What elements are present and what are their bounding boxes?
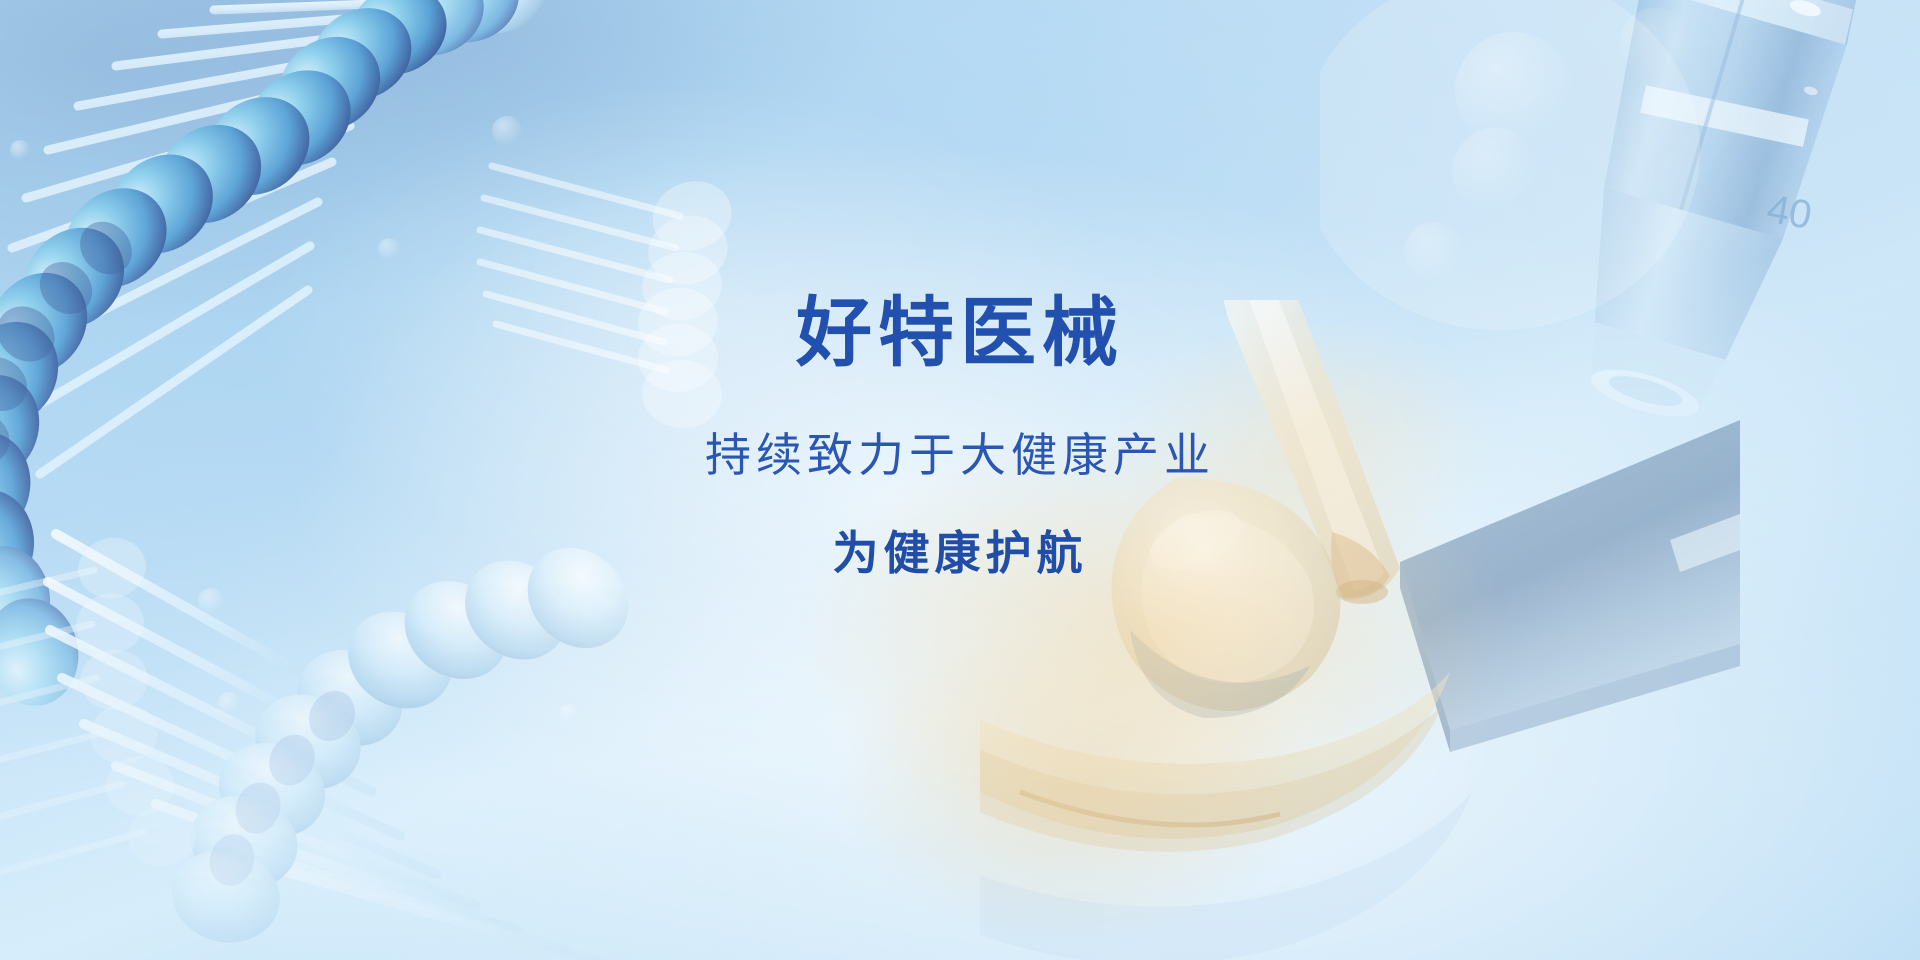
hero-banner: 40 xyxy=(0,0,1920,960)
page-subtitle: 持续致力于大健康产业 xyxy=(0,372,1920,478)
hero-text-block: 好特医械 持续致力于大健康产业 为健康护航 xyxy=(0,296,1920,576)
page-title: 好特医械 xyxy=(0,296,1920,372)
microscope-magnification-label: 40 xyxy=(1764,187,1815,238)
page-tagline: 为健康护航 xyxy=(0,478,1920,576)
